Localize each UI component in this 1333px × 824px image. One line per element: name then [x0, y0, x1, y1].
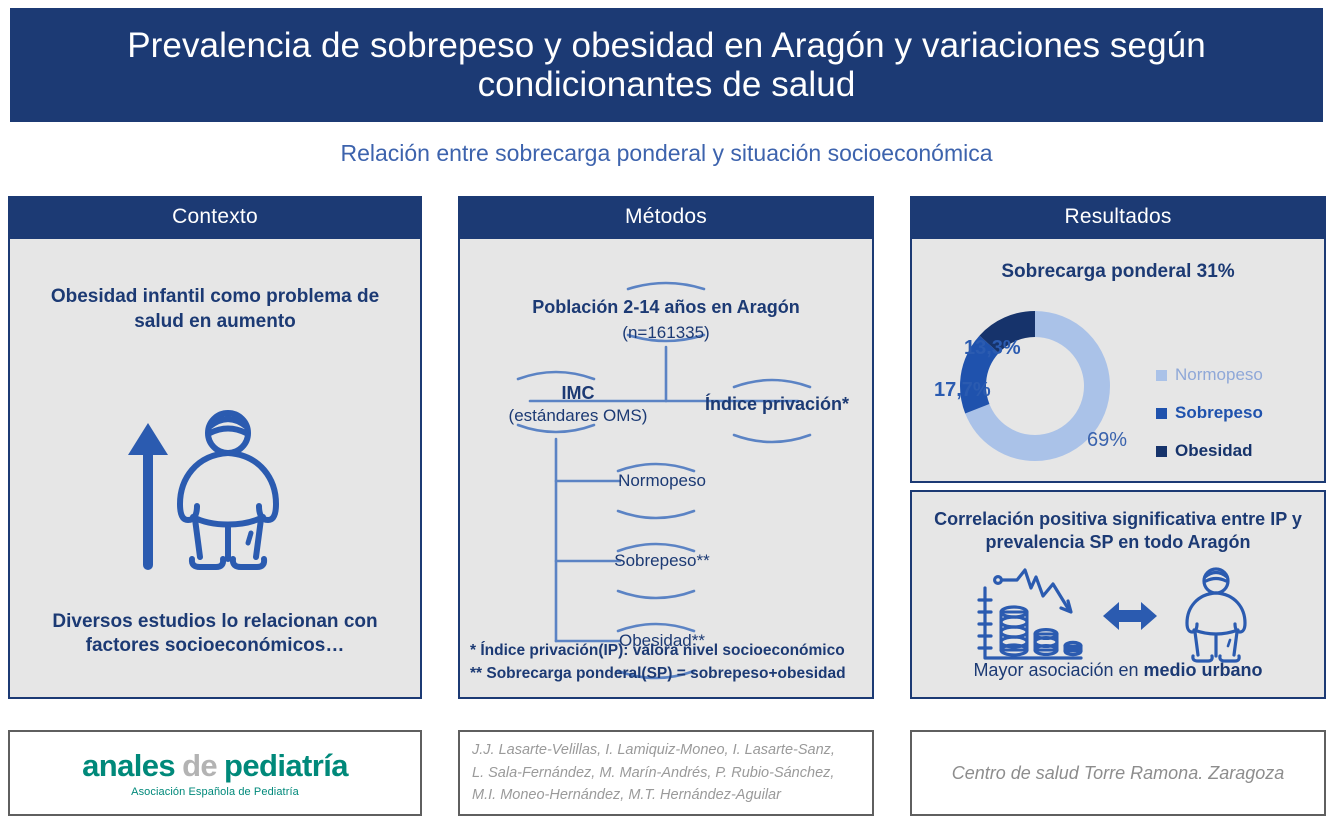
double-arrow-icon [1103, 602, 1157, 630]
legend-label-obesidad: Obesidad [1175, 441, 1252, 461]
resultados-urban-text: Mayor asociación en medio urbano [924, 660, 1312, 681]
legend-item-obesidad: Obesidad [1156, 441, 1306, 461]
legend-label-sobrepeso: Sobrepeso [1175, 403, 1263, 423]
oval-arc-top-normopeso [618, 464, 694, 471]
up-arrow-icon [128, 423, 168, 565]
logo-word-pediatria: pediatría [224, 748, 348, 783]
panel-body-metodos: Población 2-14 años en Aragón (n=161335)… [458, 239, 874, 699]
panel-resultados: Resultados Sobrecarga ponderal 31% 13,3%… [910, 196, 1326, 699]
metodos-node-poblacion: Población 2-14 años en Aragón [460, 297, 872, 318]
metodos-footnotes: * Índice privación(IP): valora nivel soc… [470, 640, 866, 685]
contexto-icon-group [120, 407, 310, 577]
panel-contexto: Contexto Obesidad infantil como problema… [8, 196, 422, 699]
contexto-bottom-text: Diversos estudios lo relacionan con fact… [28, 610, 402, 659]
legend-item-sobrepeso: Sobrepeso [1156, 403, 1306, 423]
metodos-footnote-2: ** Sobrecarga ponderal(SP) = sobrepeso+o… [470, 663, 866, 685]
metodos-node-normopeso: Normopeso [552, 471, 772, 491]
centre-affiliation: Centro de salud Torre Ramona. Zaragoza [952, 761, 1285, 785]
poster-root: Prevalencia de sobrepeso y obesidad en A… [0, 0, 1333, 824]
poster-subtitle: Relación entre sobrecarga ponderal y sit… [0, 140, 1333, 167]
oval-arc-top-imc [518, 372, 594, 379]
logo-word-de: de [182, 748, 217, 783]
authors-line-2: L. Sala-Fernández, M. Marín-Andrés, P. R… [472, 762, 860, 784]
panel-body-contexto: Obesidad infantil como problema de salud… [8, 239, 422, 699]
legend-label-normopeso: Normopeso [1175, 365, 1263, 385]
legend-item-normopeso: Normopeso [1156, 365, 1306, 385]
legend-swatch-normopeso [1156, 370, 1167, 381]
legend-swatch-sobrepeso [1156, 408, 1167, 419]
donut-legend: Normopeso Sobrepeso Obesidad [1156, 365, 1306, 479]
panel-header-metodos: Métodos [458, 196, 874, 239]
page-title: Prevalencia de sobrepeso y obesidad en A… [32, 26, 1301, 104]
resultados-urban-bold: medio urbano [1144, 660, 1263, 680]
metodos-node-indice-privacion: Índice privación* [682, 394, 872, 415]
logo-tagline: Asociación Española de Pediatría [82, 786, 348, 798]
declining-coins-chart-icon [979, 570, 1081, 658]
metodos-node-sobrepeso: Sobrepeso** [552, 551, 772, 571]
resultados-donut-section: Sobrecarga ponderal 31% 13,3% 17,7% 69% [910, 239, 1326, 483]
logo-word-anales: anales [82, 748, 175, 783]
metodos-node-imc-sub: (estándares OMS) [468, 406, 688, 426]
anales-de-pediatria-logo: analesdepediatría Asociación Española de… [82, 748, 348, 798]
oval-arc-top-obesidad [618, 624, 694, 631]
metodos-node-imc: IMC [478, 383, 678, 404]
resultados-correlation-text: Correlación positiva significativa entre… [924, 508, 1312, 555]
authors-list: J.J. Lasarte-Velillas, I. Lamiquiz-Moneo… [472, 739, 860, 806]
resultados-urban-prefix: Mayor asociación en [973, 660, 1143, 680]
resultados-heading: Sobrecarga ponderal 31% [924, 261, 1312, 283]
oval-arc-bottom-imc [518, 425, 594, 432]
obese-person-icon [1187, 569, 1245, 661]
legend-swatch-obesidad [1156, 446, 1167, 457]
donut-label-normopeso: 69% [1087, 429, 1127, 452]
panel-header-contexto: Contexto [8, 196, 422, 239]
oval-arc-top-ip [734, 380, 810, 387]
obese-person-icon [180, 413, 276, 567]
footer-centre-box: Centro de salud Torre Ramona. Zaragoza [910, 730, 1326, 816]
oval-arc-bottom-sobrepeso [618, 591, 694, 598]
contexto-top-text: Obesidad infantil como problema de salud… [28, 285, 402, 334]
oval-arc-top-poblacion [628, 283, 704, 289]
donut-label-obesidad: 13,3% [964, 337, 1021, 360]
footer-logo-box: analesdepediatría Asociación Española de… [8, 730, 422, 816]
poster-title-bar: Prevalencia de sobrepeso y obesidad en A… [10, 8, 1323, 122]
footer-authors-box: J.J. Lasarte-Velillas, I. Lamiquiz-Moneo… [458, 730, 874, 816]
authors-line-1: J.J. Lasarte-Velillas, I. Lamiquiz-Moneo… [472, 739, 860, 761]
authors-line-3: M.I. Moneo-Hernández, M.T. Hernández-Agu… [472, 784, 860, 806]
metodos-node-poblacion-n: (n=161335) [460, 323, 872, 343]
donut-label-sobrepeso: 17,7% [934, 379, 991, 402]
oval-arc-bottom-ip [734, 435, 810, 442]
panel-header-resultados: Resultados [910, 196, 1326, 239]
oval-arc-bottom-normopeso [618, 511, 694, 518]
oval-arc-top-sobrepeso [618, 544, 694, 551]
logo-wordmark: analesdepediatría [82, 748, 348, 784]
resultados-icon-group [973, 566, 1263, 671]
resultados-correlation-section: Correlación positiva significativa entre… [910, 490, 1326, 699]
panel-metodos: Métodos [458, 196, 874, 699]
metodos-footnote-1: * Índice privación(IP): valora nivel soc… [470, 640, 866, 662]
